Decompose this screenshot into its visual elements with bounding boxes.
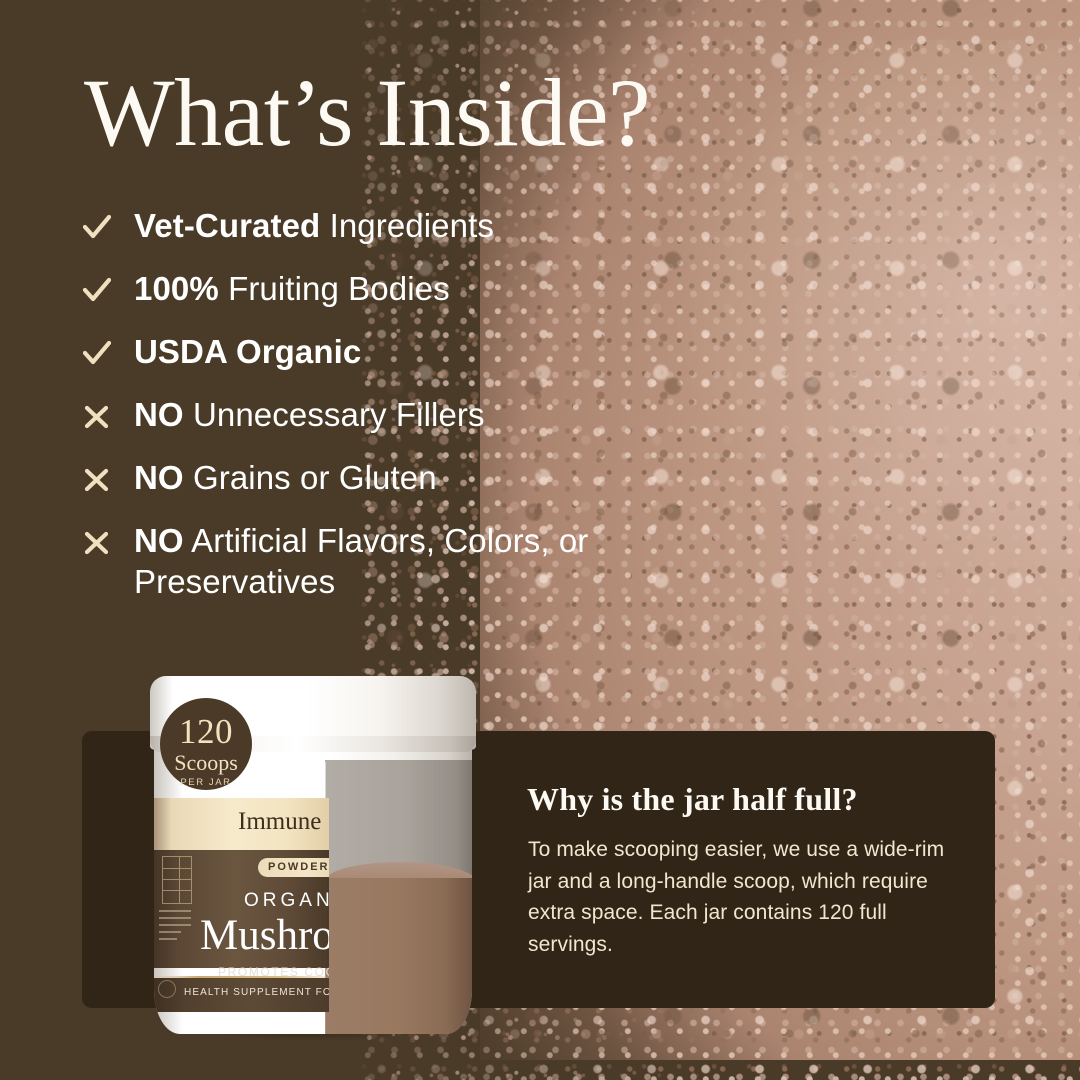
list-item-text: NO Artificial Flavors, Colors, or Preser… [134, 520, 720, 604]
list-item-text: NO Grains or Gluten [134, 457, 437, 499]
benefit-list: Vet-Curated Ingredients 100% Fruiting Bo… [80, 205, 720, 624]
list-item-lead: USDA Organic [134, 333, 361, 370]
list-item: NO Unnecessary Fillers [80, 394, 720, 436]
product-jar-image: Immune POWDER ORGANIC Mushroom PROMOTES … [146, 676, 480, 1042]
list-item-lead: NO [134, 396, 184, 433]
list-item: NO Artificial Flavors, Colors, or Preser… [80, 520, 720, 604]
jar-powder-fill [325, 878, 472, 1034]
facts-fine-print [159, 910, 191, 945]
list-item-rest: Fruiting Bodies [219, 270, 450, 307]
cross-icon [80, 524, 114, 560]
list-item-text: Vet-Curated Ingredients [134, 205, 494, 247]
list-item: NO Grains or Gluten [80, 457, 720, 499]
label-organic-text: ORGANIC [244, 890, 329, 912]
page-title: What’s Inside? [84, 62, 650, 164]
list-item-lead: 100% [134, 270, 219, 307]
check-icon [80, 272, 114, 308]
whats-inside-infographic: What’s Inside? Vet-Curated Ingredients 1… [0, 0, 1080, 1080]
list-item-text: USDA Organic [134, 331, 361, 373]
list-item-lead: Vet-Curated [134, 207, 320, 244]
list-item-rest: Unnecessary Fillers [184, 396, 485, 433]
scoops-badge-number: 120 [160, 698, 252, 749]
label-form-pill: POWDER [258, 858, 329, 877]
scoops-badge: 120 Scoops PER JAR [160, 698, 252, 790]
list-item: USDA Organic [80, 331, 720, 373]
info-panel-heading: Why is the jar half full? [527, 781, 858, 818]
list-item-lead: NO [134, 459, 184, 496]
list-item: Vet-Curated Ingredients [80, 205, 720, 247]
scoops-badge-word: Scoops [160, 751, 252, 774]
organic-seal-icon [158, 980, 176, 998]
check-icon [80, 335, 114, 371]
facts-table-divider [179, 857, 180, 903]
list-item-rest: Ingredients [320, 207, 494, 244]
info-panel-body: To make scooping easier, we use a wide-r… [528, 834, 948, 960]
list-item: 100% Fruiting Bodies [80, 268, 720, 310]
scoops-badge-subtitle: PER JAR [160, 777, 252, 788]
label-brand-line: Immune [238, 808, 321, 836]
supplement-facts-table [162, 856, 192, 904]
list-item-text: NO Unnecessary Fillers [134, 394, 485, 436]
check-icon [80, 209, 114, 245]
list-item-lead: NO [134, 522, 184, 559]
jar-label: Immune POWDER ORGANIC Mushroom PROMOTES … [154, 798, 329, 1012]
label-footer-text: HEALTH SUPPLEMENT FOR CATS [184, 987, 329, 998]
cross-icon [80, 461, 114, 497]
list-item-text: 100% Fruiting Bodies [134, 268, 450, 310]
label-product-name: Mushroom [200, 911, 329, 960]
list-item-rest: Artificial Flavors, Colors, or Preservat… [134, 522, 588, 601]
cross-icon [80, 398, 114, 434]
list-item-rest: Grains or Gluten [184, 459, 437, 496]
supplement-facts-block [156, 854, 194, 966]
